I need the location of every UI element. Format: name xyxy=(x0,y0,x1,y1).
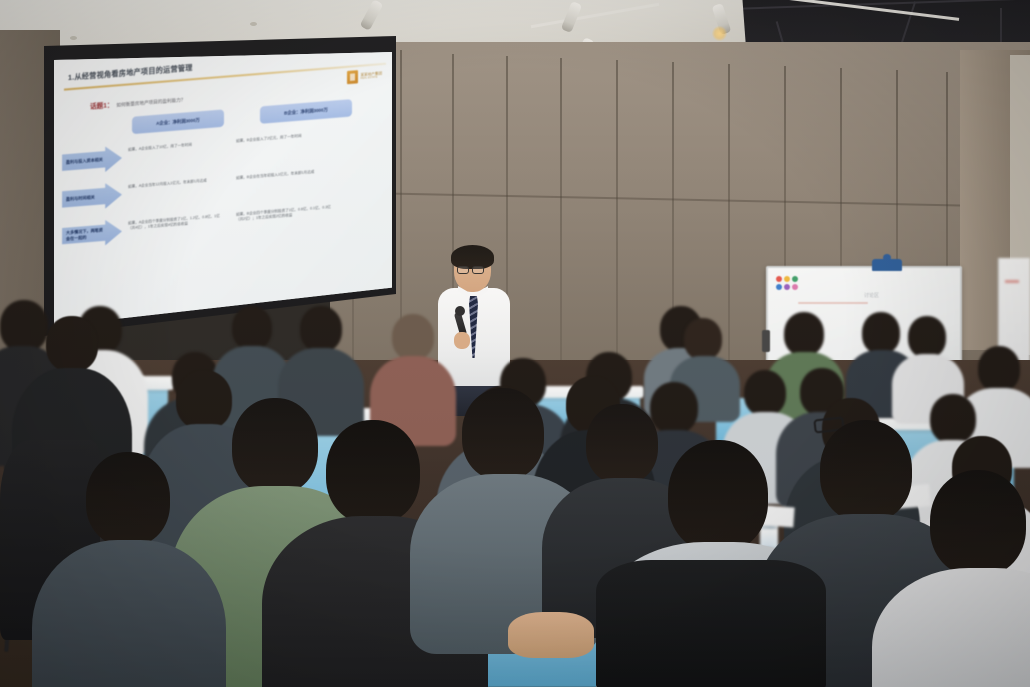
arrow-cell: 大多情况下，两笔资金在一起的 xyxy=(62,218,128,249)
arrow-shape-icon: 大多情况下，两笔资金在一起的 xyxy=(62,219,122,249)
attendee-hand xyxy=(508,612,594,658)
company-logo-icon xyxy=(347,70,358,84)
company-box-b: B企业：净利润3000万 xyxy=(260,99,352,124)
arrow-label: 大多情况下，两笔资金在一起的 xyxy=(66,227,106,241)
logo-text-bottom: REAL ESTATE xyxy=(360,75,382,80)
arrow-shape-icon: 盈利与时间相关 xyxy=(62,182,122,212)
flipchart-marking xyxy=(1005,280,1019,283)
row-text-b: 如果，B企业投入了2亿元，用了一年时间 xyxy=(224,128,332,145)
presenter-hair xyxy=(451,245,494,269)
whiteboard-tray xyxy=(762,330,770,352)
arrow-cell: 盈利与时间相关 xyxy=(62,181,128,212)
company-box-a: A企业：净利润3000万 xyxy=(132,109,224,134)
row-text-b: 如果，B企业四个季度分别投资了1亿、0.6亿、0.1亿、0.3亿（共2亿）；1年… xyxy=(224,202,332,225)
whiteboard-clip-icon xyxy=(872,259,902,271)
whiteboard-magnet-dots xyxy=(776,276,798,290)
screen-surface: 1.从经营视角看房地产项目的运营管理 某某地产集团 REAL ESTATE 话题… xyxy=(50,52,392,326)
slide-comparison-grid: 盈利与投入资本相关 如果，A企业投入了10亿，用了一年时间 如果，B企业投入了2… xyxy=(62,124,388,249)
presentation-slide: 1.从经营视角看房地产项目的运营管理 某某地产集团 REAL ESTATE 话题… xyxy=(50,52,392,326)
glasses-icon xyxy=(457,266,469,274)
topic-description: 如何衡量房地产项目的盈利能力？ xyxy=(116,97,185,109)
glasses-icon xyxy=(472,266,484,274)
presenter-hand xyxy=(454,332,470,349)
whiteboard-note: 讨论区 xyxy=(864,292,879,299)
arrow-shape-icon: 盈利与投入资本相关 xyxy=(62,145,122,175)
whiteboard-marking xyxy=(798,302,868,304)
slide-logo: 某某地产集团 REAL ESTATE xyxy=(347,68,382,84)
row-text-a: 如果，A企业投入了10亿，用了一年时间 xyxy=(128,137,224,153)
arrow-cell: 盈利与投入资本相关 xyxy=(62,145,128,176)
microphone-head-icon xyxy=(455,306,465,316)
arrow-label: 盈利与时间相关 xyxy=(66,193,106,202)
row-text-a: 如果，A企业当年12月投入1亿元，年末即1月达成 xyxy=(128,174,224,190)
row-text-b: 如果，B企业在当年初投入1亿元，年末即1月达成 xyxy=(224,165,332,182)
downlight-icon xyxy=(250,22,257,26)
seminar-room-photo: 1.从经营视角看房地产项目的运营管理 某某地产集团 REAL ESTATE 话题… xyxy=(0,0,1030,687)
topic-tag: 话题1： xyxy=(90,99,113,111)
arrow-label: 盈利与投入资本相关 xyxy=(66,156,106,165)
projection-screen: 1.从经营视角看房地产项目的运营管理 某某地产集团 REAL ESTATE 话题… xyxy=(36,36,396,336)
row-text-a: 如果，A企业四个季度分别投资了1亿、1.2亿、0.8亿、1亿（共4亿），1年之后… xyxy=(128,210,224,232)
